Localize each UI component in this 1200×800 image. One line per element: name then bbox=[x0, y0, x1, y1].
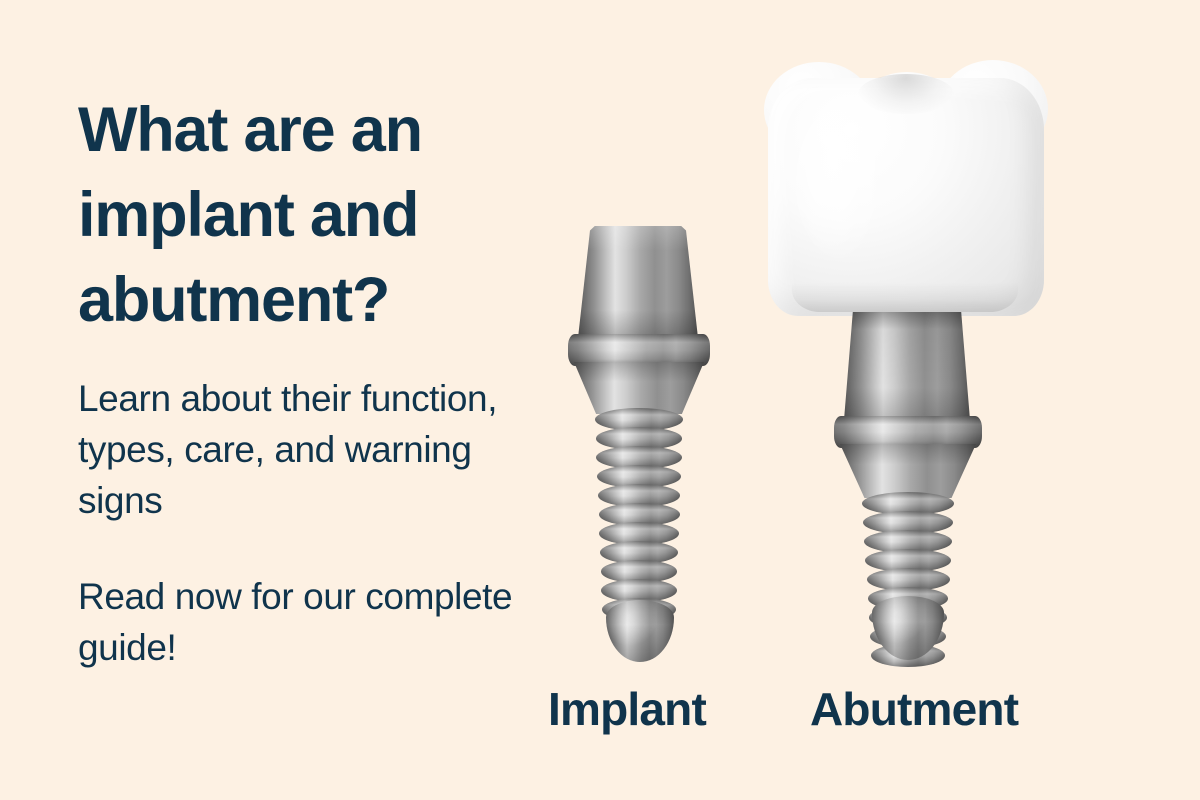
poster-canvas: What are an implant and abutment? Learn … bbox=[0, 0, 1200, 800]
crown-underside-shadow bbox=[792, 282, 1018, 312]
abutment-post-shading bbox=[844, 312, 970, 420]
crown-occlusal-groove bbox=[858, 74, 954, 114]
illustration-area: Implant Abutment bbox=[520, 0, 1200, 800]
implant-cone-head-shading bbox=[578, 226, 698, 338]
implant-apex-tip-shading bbox=[606, 600, 674, 662]
implant-illustration bbox=[554, 226, 734, 662]
abutment-flange-collar-shading bbox=[834, 416, 982, 448]
implant-flange-collar-shading bbox=[568, 334, 710, 366]
crown-specular-highlight bbox=[796, 108, 884, 258]
abutment-shoulder-shading bbox=[840, 444, 976, 498]
implant-threaded-body-icon bbox=[596, 408, 682, 616]
abutment-illustration bbox=[762, 56, 1062, 662]
implant-caption-label: Implant bbox=[548, 682, 706, 736]
subtitle-text: Learn about their function, types, care,… bbox=[78, 343, 548, 526]
call-to-action-text: Read now for our complete guide! bbox=[78, 526, 548, 673]
text-column: What are an implant and abutment? Learn … bbox=[78, 88, 548, 673]
implant-shoulder-shading bbox=[574, 362, 704, 414]
ceramic-crown-icon bbox=[762, 56, 1050, 318]
abutment-caption-label: Abutment bbox=[810, 682, 1018, 736]
page-title: What are an implant and abutment? bbox=[78, 88, 548, 343]
